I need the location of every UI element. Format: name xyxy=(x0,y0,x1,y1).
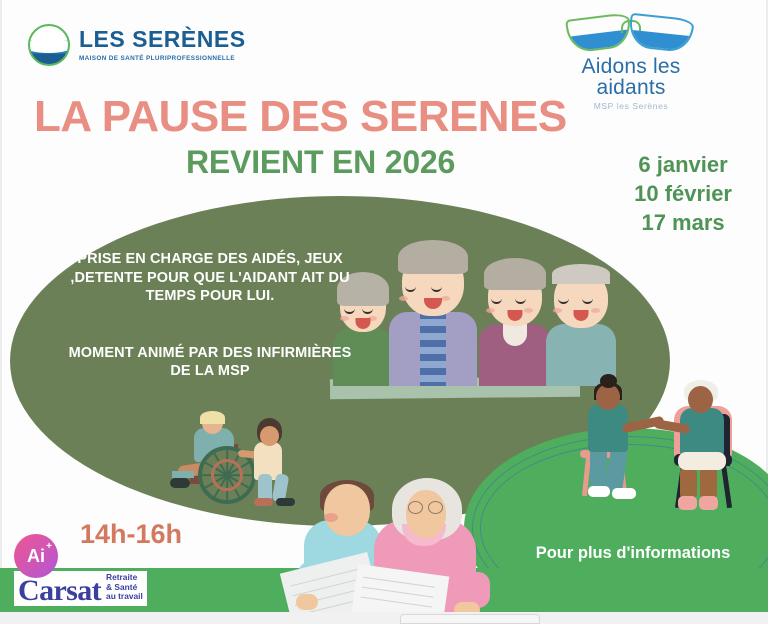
logo-les-serenes: LES SERÈNES MAISON DE SANTÉ PLURIPROFESS… xyxy=(28,24,246,66)
ai-badge-label: Ai xyxy=(27,546,45,567)
nurse-elderly-illustration xyxy=(576,368,756,514)
page-subtitle: REVIENT EN 2026 xyxy=(186,146,455,178)
logo-left-title: LES SERÈNES xyxy=(79,28,246,51)
wheelchair-illustration xyxy=(168,398,308,506)
body-block-2: MOMENT ANIMÉ PAR DES INFIRMIÈRES DE LA M… xyxy=(60,344,360,381)
elderly-figure-magenta xyxy=(476,254,554,386)
date-item: 17 mars xyxy=(634,208,732,237)
time-label: 14h-16h xyxy=(80,519,182,550)
date-item: 6 janvier xyxy=(634,150,732,179)
info-line-1: Pour plus d'informations xyxy=(508,542,758,565)
wave-circle-icon xyxy=(28,24,70,66)
elderly-figure-lavender xyxy=(386,236,480,386)
taskbar-pill[interactable] xyxy=(400,614,540,624)
ai-plus-badge-icon[interactable]: Ai xyxy=(14,534,58,578)
poster-canvas: LES SERÈNES MAISON DE SANTÉ PLURIPROFESS… xyxy=(0,0,768,624)
body-block-1: PRISE EN CHARGE DES AIDÉS, JEUX ,DETENTE… xyxy=(60,250,360,306)
carsat-name: Carsat xyxy=(18,578,101,604)
logo-left-subtitle: MAISON DE SANTÉ PLURIPROFESSIONNELLE xyxy=(79,56,246,62)
four-elderly-illustration xyxy=(330,216,590,386)
glasses-icon xyxy=(555,10,707,54)
carsat-tagline: Retraite & Santé au travail xyxy=(106,573,143,604)
carsat-tagline-line-3: au travail xyxy=(106,592,143,602)
eyeglasses-icon xyxy=(408,501,444,514)
page-edge-left xyxy=(0,0,2,624)
couple-reading-illustration xyxy=(296,464,492,624)
oval-body-text: PRISE EN CHARGE DES AIDÉS, JEUX ,DETENTE… xyxy=(60,250,360,381)
elderly-figure-teal xyxy=(544,258,618,386)
window-bottom-strip xyxy=(0,612,768,624)
date-item: 10 février xyxy=(634,179,732,208)
page-title: LA PAUSE DES SERENES xyxy=(34,95,694,139)
logo-right-title: Aidons les aidants xyxy=(546,56,716,98)
dates-list: 6 janvier 10 février 17 mars xyxy=(634,150,732,237)
